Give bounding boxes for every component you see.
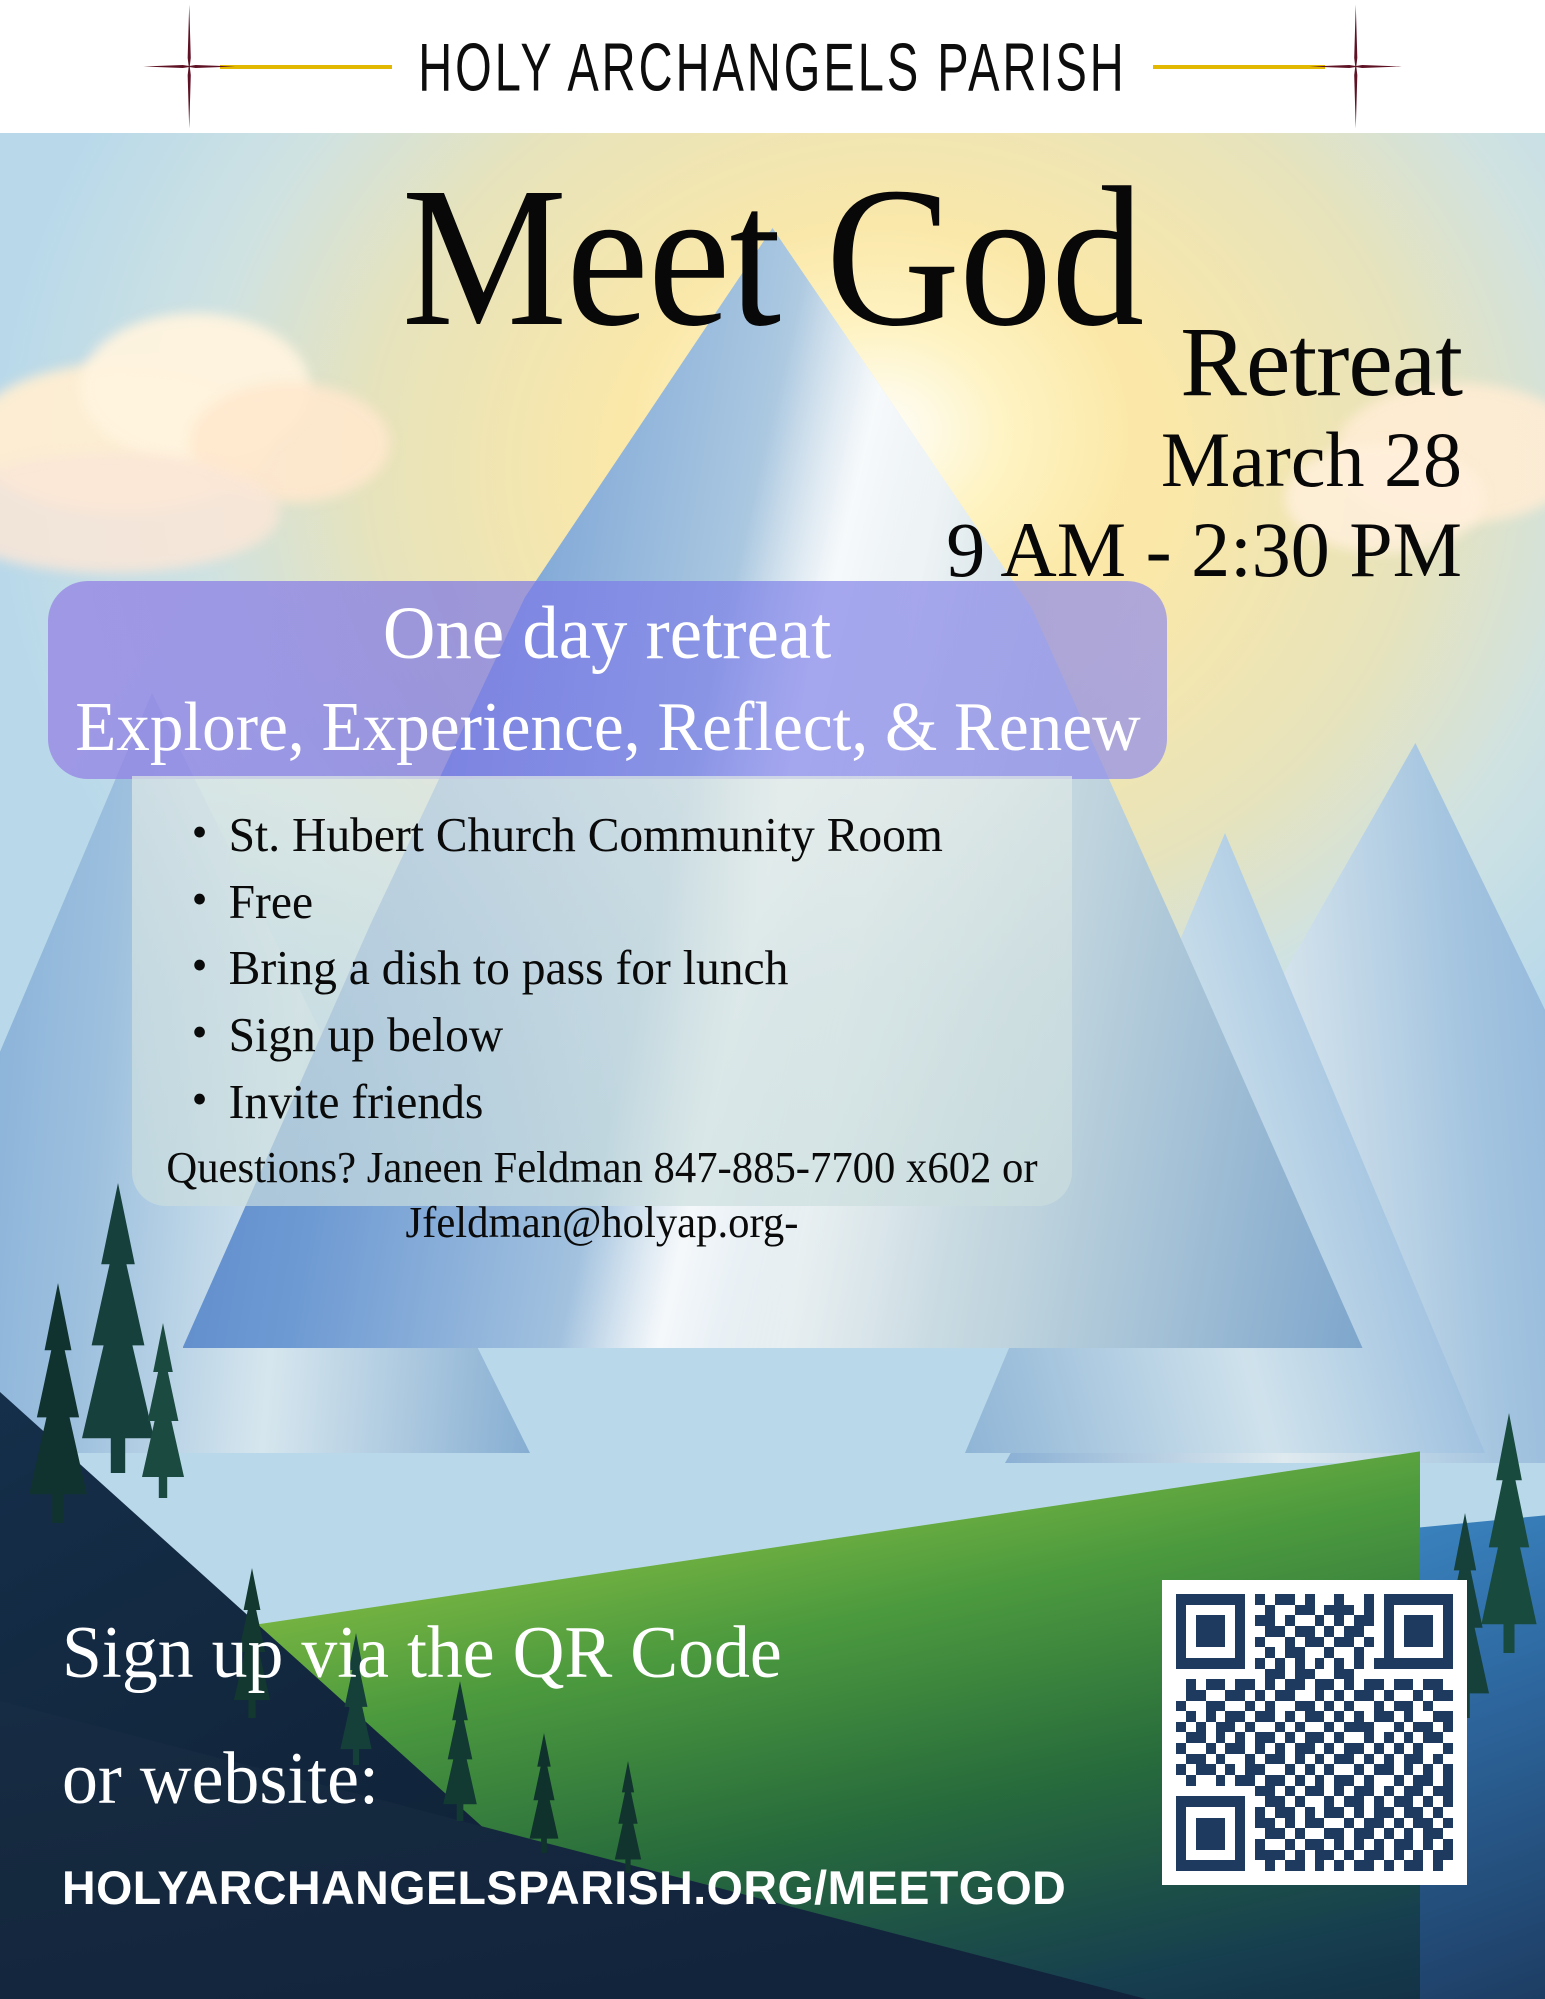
list-item: Sign up below	[184, 1002, 1045, 1069]
header-rule-right	[1153, 65, 1325, 69]
contact-questions-line: Questions? Janeen Feldman 847-885-7700 x…	[166, 1143, 1037, 1192]
parish-header: HOLY ARCHANGELS PARISH	[0, 0, 1545, 133]
qr-code-matrix	[1176, 1594, 1453, 1871]
signup-url[interactable]: HOLYARCHANGELSPARISH.ORG/MEETGOD	[62, 1860, 953, 1915]
list-item: Free	[184, 869, 1045, 936]
sparkle-star-icon	[1325, 5, 1387, 129]
page-title: HOLY ARCHANGELS PARISH	[392, 27, 1153, 107]
banner-tagline: Explore, Experience, Reflect, & Renew	[75, 693, 1140, 763]
details-bullet-list: St. Hubert Church Community Room Free Br…	[132, 802, 1072, 1135]
contact-block: Questions? Janeen Feldman 847-885-7700 x…	[146, 1141, 1058, 1250]
event-subtitle: Retreat	[946, 310, 1462, 414]
cta-line-1: Sign up via the QR Code	[62, 1616, 935, 1690]
list-item: Bring a dish to pass for lunch	[184, 935, 1045, 1002]
header-rule-left	[220, 65, 392, 69]
contact-email[interactable]: Jfeldman@holyap.org-	[146, 1196, 1058, 1251]
retreat-banner: One day retreat Explore, Experience, Ref…	[48, 581, 1167, 779]
banner-headline: One day retreat	[383, 596, 831, 671]
event-subtitle-block: Retreat March 28 9 AM - 2:30 PM	[946, 310, 1462, 593]
event-date: March 28	[946, 414, 1462, 506]
signup-cta: Sign up via the QR Code or website: HOLY…	[62, 1616, 962, 1915]
sparkle-star-icon	[158, 5, 220, 129]
qr-code[interactable]	[1162, 1580, 1467, 1885]
list-item: Invite friends	[184, 1069, 1045, 1136]
details-panel: St. Hubert Church Community Room Free Br…	[132, 776, 1072, 1206]
retreat-flyer: HOLY ARCHANGELS PARISH	[0, 0, 1545, 1999]
list-item: St. Hubert Church Community Room	[184, 802, 1045, 869]
cta-line-2: or website:	[62, 1742, 935, 1816]
